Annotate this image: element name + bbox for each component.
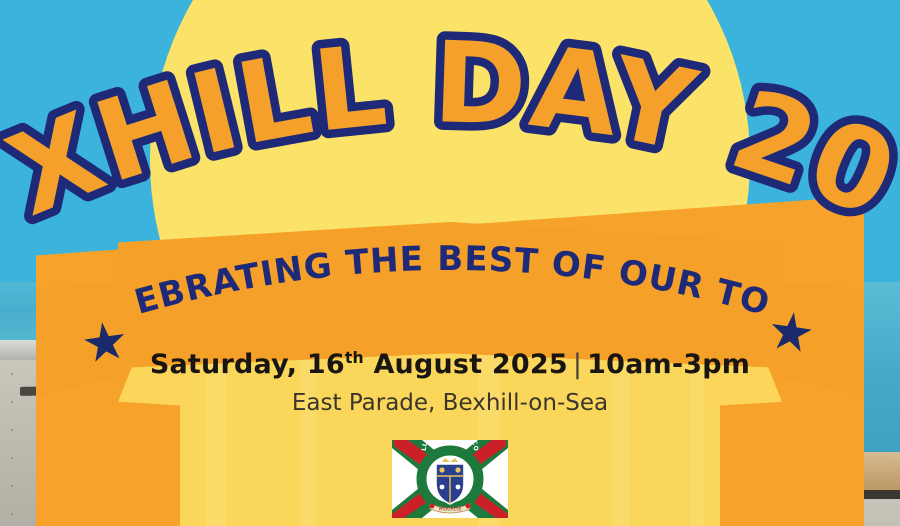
ordinal-suffix: th	[345, 348, 364, 367]
crest-motto: PROGRESS	[439, 506, 462, 511]
date-time-separator: |	[573, 349, 582, 380]
event-month-year: August 2025	[364, 349, 568, 380]
bexhill-on-sea-town-council-crest-icon: BEXHILL-ON-SEA TOWN COUNCIL PROGRESS	[392, 440, 508, 518]
event-weekday-day: Saturday, 16	[150, 349, 345, 380]
event-time: 10am-3pm	[587, 349, 750, 380]
page-title: BEXHILL DAY 2025 BEXHILL DAY 2025	[0, 52, 900, 232]
tagline: CELEBRATING THE BEST OF OUR TOWN	[118, 230, 782, 330]
event-venue: East Parade, Bexhill-on-Sea	[0, 390, 900, 416]
event-date-time: Saturday, 16th August 2025|10am-3pm	[0, 348, 900, 380]
bexhill-day-poster: BEXHILL DAY 2025 BEXHILL DAY 2025 CELEBR…	[0, 0, 900, 526]
